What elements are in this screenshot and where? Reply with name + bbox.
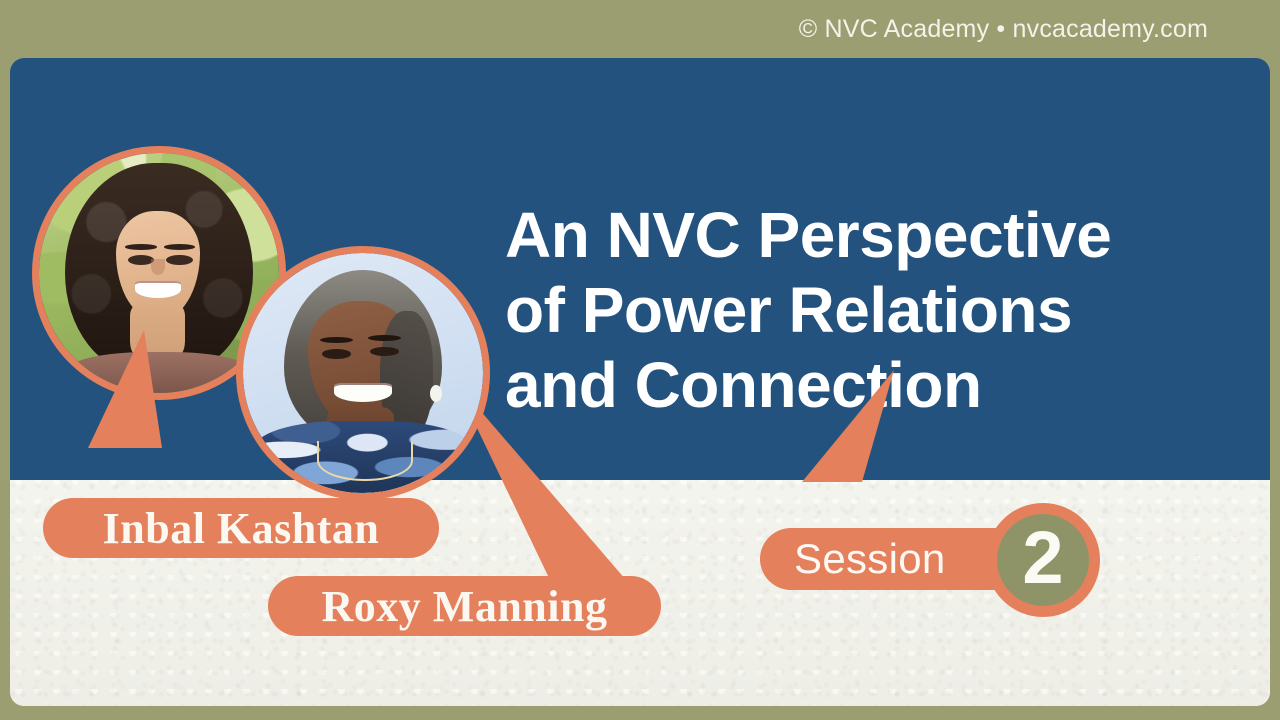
session-number-text: 2 bbox=[1022, 521, 1063, 595]
earring-icon bbox=[430, 385, 442, 402]
brow-right bbox=[368, 335, 402, 341]
presenter-label-inbal-kashtan: Inbal Kashtan bbox=[43, 498, 439, 558]
pointer-session-shape bbox=[802, 370, 912, 490]
session-number-badge: 2 bbox=[986, 503, 1100, 617]
pointer-inbal-shape bbox=[88, 330, 178, 460]
presenter-label-roxy-manning: Roxy Manning bbox=[268, 576, 661, 636]
session-label-text: Session bbox=[794, 535, 946, 583]
necklace-icon bbox=[317, 441, 412, 481]
content-panel: An NVC Perspective of Power Relations an… bbox=[10, 58, 1270, 706]
copyright-bar: © NVC Academy • nvcacademy.com bbox=[0, 0, 1280, 58]
avatar-roxy-manning bbox=[236, 246, 490, 500]
copyright-text: © NVC Academy • nvcacademy.com bbox=[799, 15, 1208, 44]
title-line-1: An NVC Perspective bbox=[505, 198, 1265, 273]
brow-right bbox=[164, 244, 195, 250]
smile-shape bbox=[135, 281, 181, 298]
slide-canvas: © NVC Academy • nvcacademy.com An NVC Pe… bbox=[0, 0, 1280, 720]
title-line-2: of Power Relations bbox=[505, 273, 1265, 348]
pointer-session bbox=[802, 370, 912, 490]
presenter-name-text: Inbal Kashtan bbox=[103, 503, 380, 554]
brow-left bbox=[125, 244, 156, 250]
pointer-inbal bbox=[88, 330, 178, 460]
eye-right bbox=[166, 255, 192, 265]
presenter-name-text: Roxy Manning bbox=[322, 581, 608, 632]
eye-left bbox=[322, 349, 351, 359]
avatar-roxy-photo bbox=[243, 253, 483, 493]
smile-shape bbox=[334, 383, 392, 402]
eye-right bbox=[370, 347, 399, 357]
